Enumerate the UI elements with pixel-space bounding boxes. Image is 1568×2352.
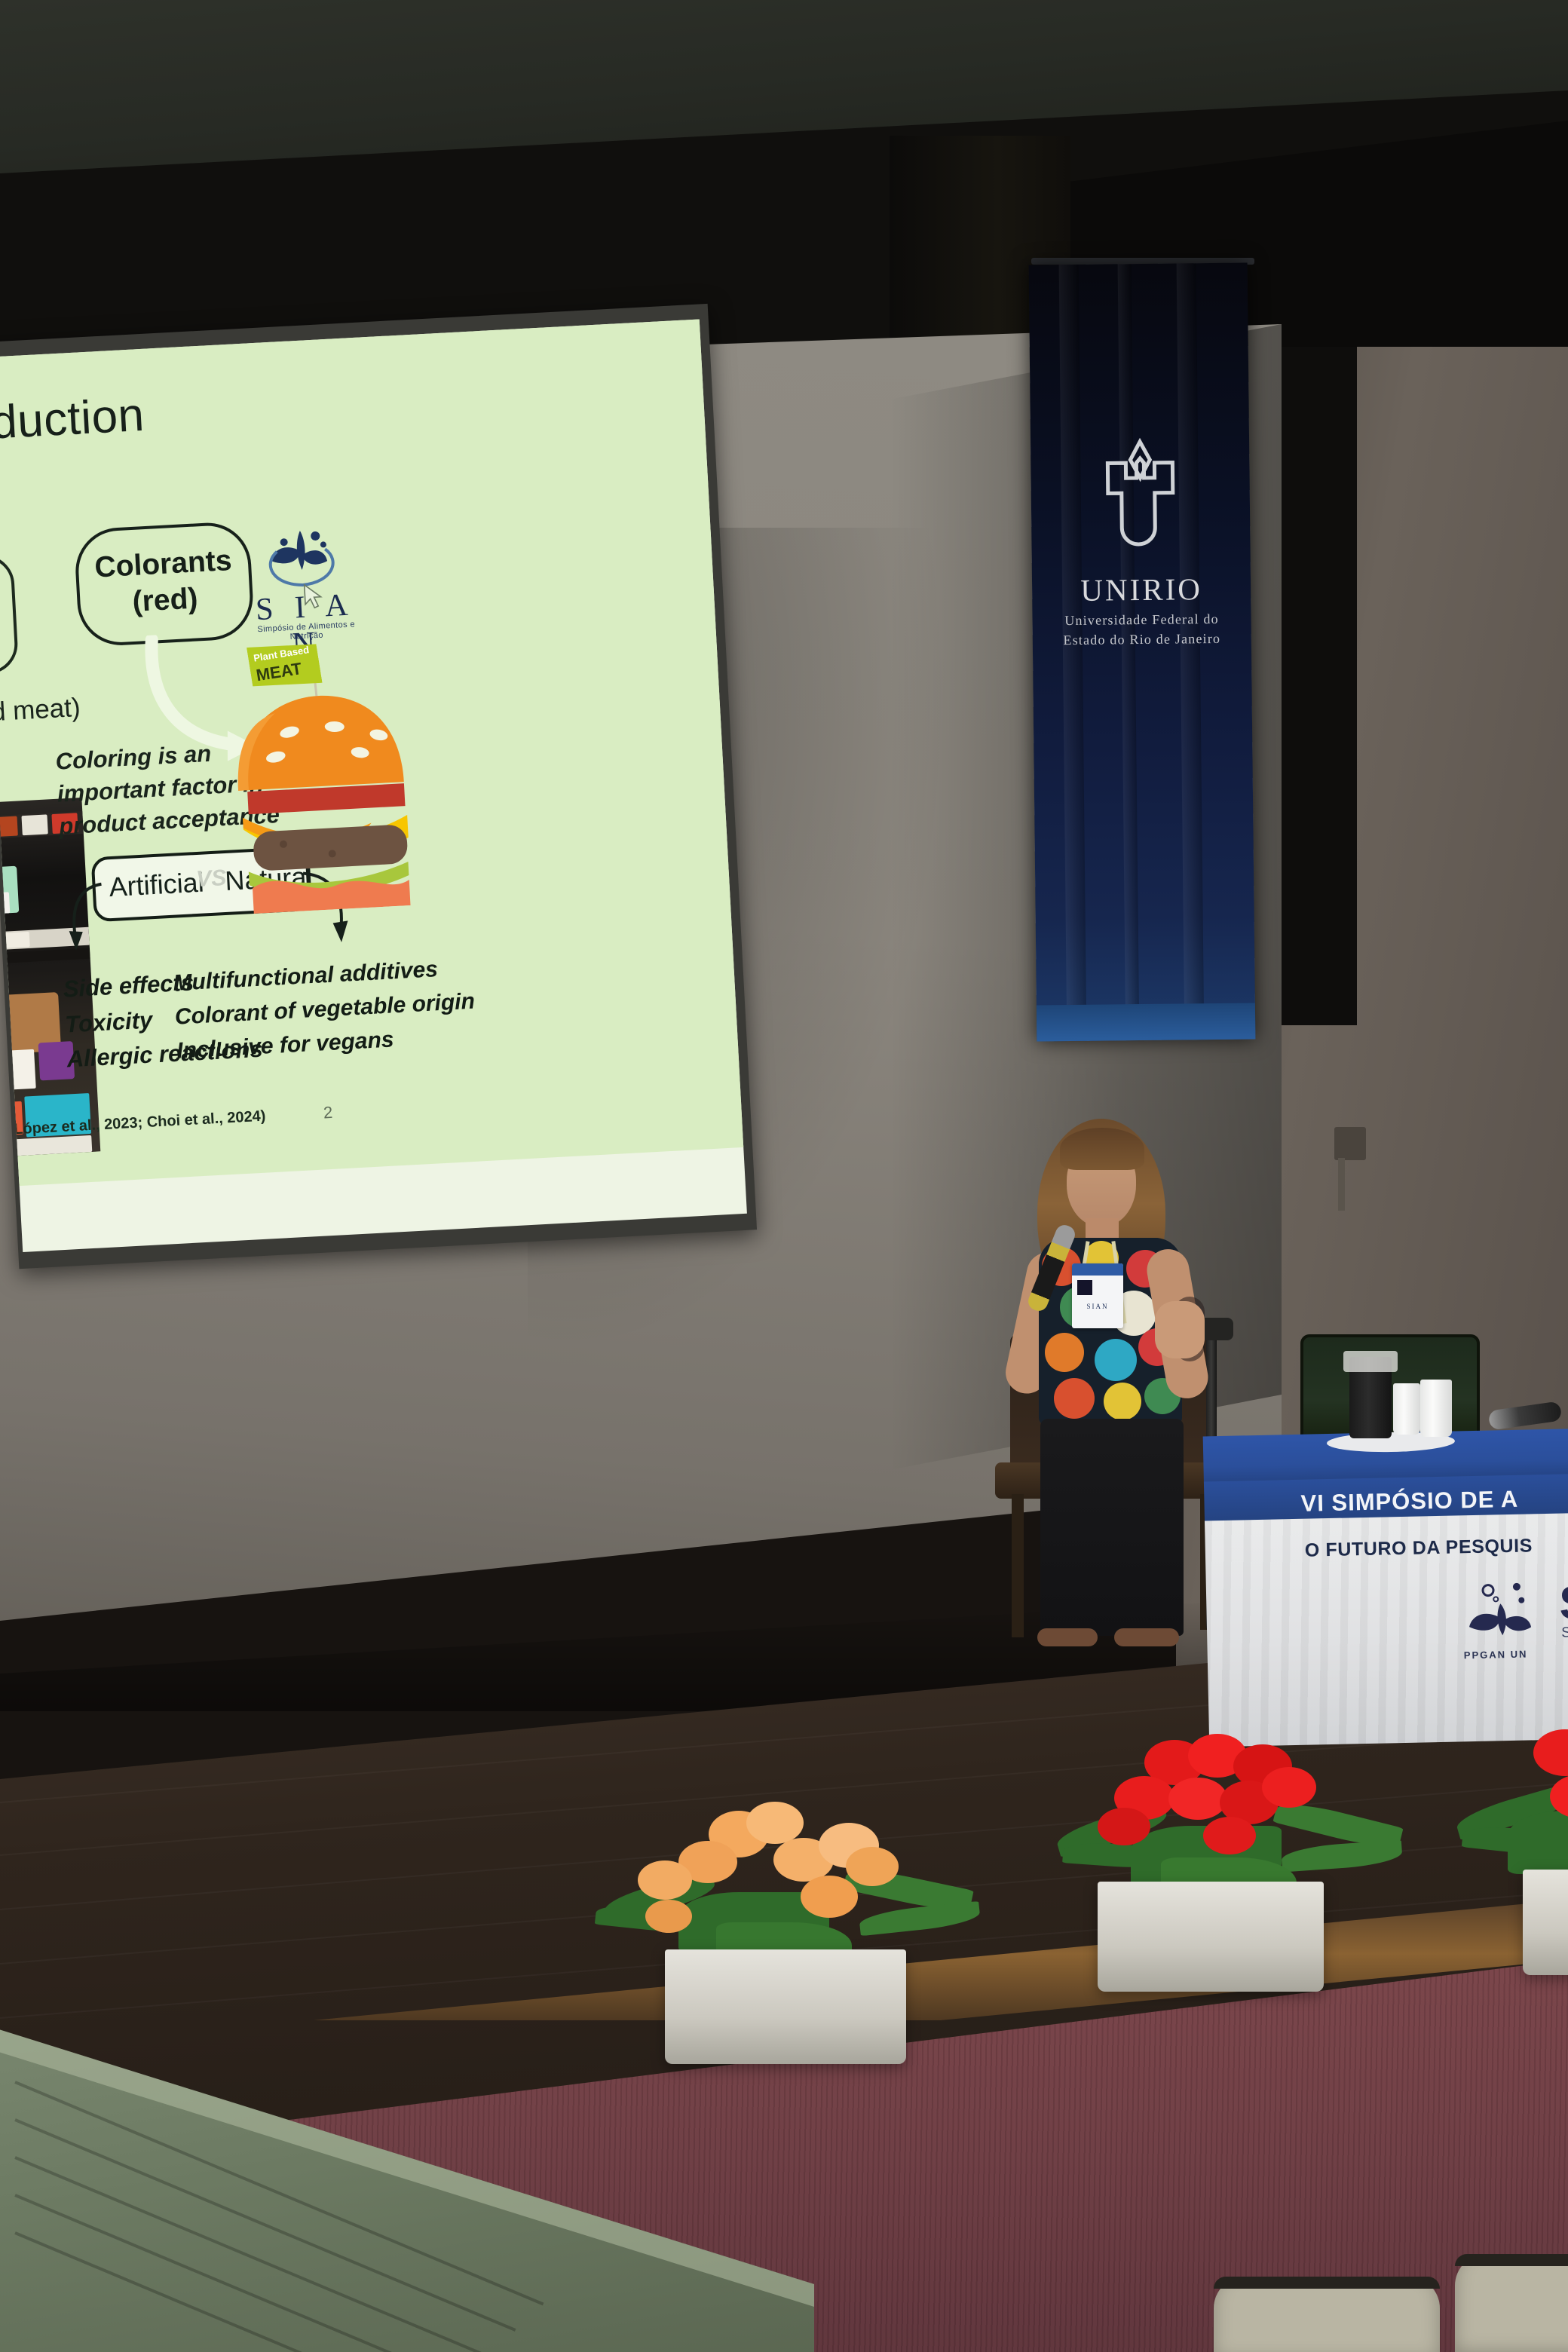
left-rounded-box — [0, 553, 19, 678]
table-banner-line1: VI SIMPÓSIO DE A — [1300, 1486, 1518, 1517]
unirio-subtitle-line1: Universidade Federal do — [1032, 611, 1251, 629]
unirio-title: UNIRIO — [1032, 570, 1251, 608]
flower-pot — [1098, 1882, 1324, 1992]
flag-line1: Plant Based — [253, 644, 310, 664]
table-banner-sian-logo: S Simp — [1462, 1571, 1568, 1646]
flower-pot — [665, 1949, 906, 2064]
left-branch-arrow-icon — [62, 879, 111, 957]
conference-badge: SIAN — [1072, 1263, 1123, 1328]
svg-text:S: S — [1559, 1577, 1568, 1630]
flower-pot — [1523, 1870, 1568, 1975]
shoe — [1114, 1628, 1179, 1646]
speaker-person: SIAN — [995, 1108, 1221, 1726]
photo-scene: UNIRIO Universidade Federal do Estado do… — [0, 0, 1568, 2352]
sian-logo: S I A N Simpósio de Alimentos e Nutrição — [250, 517, 357, 634]
shoe — [1037, 1628, 1098, 1646]
red-flower-arrangement-partial — [1478, 1726, 1568, 1975]
wall-fixture-stem — [1338, 1158, 1345, 1211]
jar-lace-cover — [1343, 1351, 1398, 1372]
wall-fixture — [1334, 1127, 1366, 1160]
natural-benefits-list: Multifunctional additives Colorant of ve… — [172, 951, 477, 1068]
unirio-subtitle-line2: Estado do Rio de Janeiro — [1033, 630, 1251, 648]
chair-rail — [1455, 2254, 1568, 2266]
badge-header — [1072, 1263, 1123, 1276]
audience-chair[interactable] — [1214, 2277, 1440, 2352]
presentation-slide: Introduction based meat) 38%) — [0, 319, 743, 1186]
red-flower-arrangement — [1055, 1734, 1410, 2013]
colorants-label-line1: Colorants — [78, 544, 249, 586]
svg-text:Simp: Simp — [1561, 1625, 1568, 1641]
unirio-banner-footer — [1037, 1003, 1255, 1041]
audience-chair[interactable] — [1455, 2254, 1568, 2352]
vs-label: VS — [195, 865, 227, 893]
qr-code-icon — [1077, 1280, 1092, 1295]
slide-title: Introduction — [0, 388, 145, 455]
black-trousers — [1040, 1419, 1184, 1636]
paper-cup — [1393, 1383, 1420, 1435]
projection-screen: Introduction based meat) 38%) — [0, 304, 757, 1269]
flag-line2: MEAT — [255, 659, 303, 685]
table-banner-partner-logos: PPGAN UN — [1464, 1649, 1528, 1661]
slide-page-number: 2 — [323, 1103, 333, 1123]
mouse-pointer-icon — [303, 583, 324, 611]
hair-fringe — [1060, 1128, 1144, 1170]
badge-sian-label: SIAN — [1072, 1303, 1123, 1310]
paper-cup — [1420, 1380, 1452, 1437]
unirio-banner: UNIRIO Universidade Federal do Estado do… — [1029, 263, 1256, 1042]
artificial-label: Artificial — [109, 867, 205, 904]
burger-illustration — [228, 687, 413, 914]
sian-plant-icon — [250, 517, 355, 590]
colorants-pill: Colorants (red) — [73, 521, 255, 648]
presentation-table: VI SIMPÓSIO DE A O FUTURO DA PESQUIS S S… — [1203, 1429, 1568, 1753]
chair-rail — [1214, 2277, 1440, 2289]
unirio-crest-icon — [1100, 436, 1181, 555]
right-hand — [1155, 1301, 1205, 1358]
orange-flower-arrangement — [596, 1794, 988, 2081]
colorants-label-line2: (red) — [80, 580, 251, 622]
